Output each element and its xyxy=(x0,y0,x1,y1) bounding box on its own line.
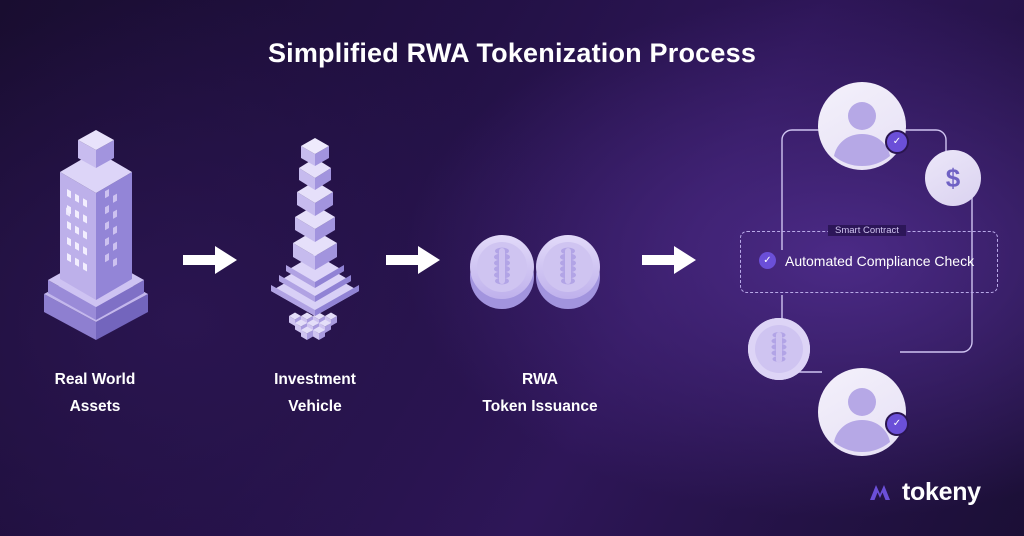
stage-label-line1: Investment xyxy=(230,366,400,393)
tokeny-logo-wordmark: tokeny xyxy=(902,478,981,507)
automated-compliance-check-row: ✓ Automated Compliance Check xyxy=(759,252,974,269)
diagram-canvas: Simplified RWA Tokenization Process xyxy=(0,0,1024,536)
stage-label-rwa-token-issuance: RWA Token Issuance xyxy=(450,366,630,420)
automated-compliance-check-label: Automated Compliance Check xyxy=(785,253,974,269)
check-icon: ✓ xyxy=(893,137,901,147)
stage-label-line2: Assets xyxy=(10,393,180,420)
smart-contract-caption: Smart Contract xyxy=(828,225,906,236)
tokeny-logo: tokeny xyxy=(868,478,981,507)
stage-label-line1: RWA xyxy=(450,366,630,393)
right-arrow-icon xyxy=(640,243,698,277)
tokeny-logo-mark xyxy=(868,480,894,506)
arrow-2 xyxy=(384,243,442,277)
dollar-coin: $ xyxy=(925,150,981,206)
stage-label-real-world-assets: Real World Assets xyxy=(10,366,180,420)
page-title: Simplified RWA Tokenization Process xyxy=(0,38,1024,69)
right-arrow-icon xyxy=(384,243,442,277)
isometric-stacked-tokens-icon xyxy=(255,130,375,345)
token-coin-icon xyxy=(748,318,810,380)
dollar-icon: $ xyxy=(946,163,960,194)
investor-top-check-badge: ✓ xyxy=(885,130,909,154)
token-coin xyxy=(748,318,810,380)
compliance-check-icon: ✓ xyxy=(759,252,776,269)
stage-label-investment-vehicle: Investment Vehicle xyxy=(230,366,400,420)
isometric-building-icon xyxy=(36,128,156,343)
right-arrow-icon xyxy=(181,243,239,277)
person-avatar-icon xyxy=(818,82,906,170)
stage-label-line1: Real World xyxy=(10,366,180,393)
stage-label-line2: Token Issuance xyxy=(450,393,630,420)
check-icon: ✓ xyxy=(893,419,901,429)
investor-top-avatar xyxy=(818,82,906,170)
stage-label-line2: Vehicle xyxy=(230,393,400,420)
arrow-1 xyxy=(181,243,239,277)
isometric-token-coins-icon xyxy=(462,215,617,315)
investor-bottom-check-badge: ✓ xyxy=(885,412,909,436)
arrow-3 xyxy=(640,243,698,277)
